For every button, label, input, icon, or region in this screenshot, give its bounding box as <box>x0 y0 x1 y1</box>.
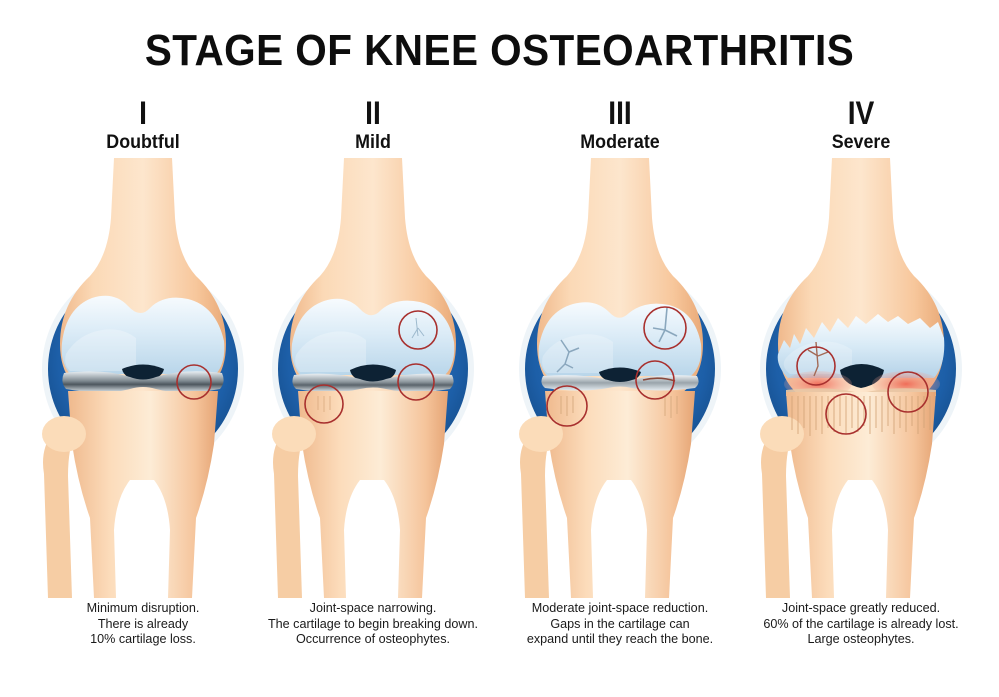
stage-caption: Joint-space greatly reduced. 60% of the … <box>732 601 990 648</box>
stage-name-label: Doubtful <box>26 132 261 154</box>
tibia-bone <box>545 391 695 598</box>
stage-panel-4[interactable]: IV Severe <box>736 96 986 676</box>
stage-roman-numeral: IV <box>751 96 971 130</box>
tibia-bone <box>786 392 936 598</box>
fibula-bone <box>761 430 794 598</box>
stage-roman-numeral: III <box>510 96 730 130</box>
stage-roman-numeral: I <box>33 96 253 130</box>
knee-illustration-stage-4 <box>736 158 986 598</box>
knee-illustration-stage-1 <box>18 158 268 598</box>
stage-name-label: Mild <box>256 132 491 154</box>
stage-caption: Minimum disruption. There is already 10%… <box>18 601 268 648</box>
knee-illustration-stage-3 <box>495 158 745 598</box>
fibula-head <box>519 416 563 452</box>
stage-panels: I Doubtful <box>0 96 999 696</box>
stage-panel-1[interactable]: I Doubtful <box>18 96 268 676</box>
stage-roman-numeral: II <box>263 96 483 130</box>
fibula-bone <box>273 430 306 598</box>
knee-illustration-stage-2 <box>248 158 498 598</box>
stage-caption: Joint-space narrowing. The cartilage to … <box>240 601 506 648</box>
stage-panel-2[interactable]: II Mild <box>248 96 498 676</box>
page-title: STAGE OF KNEE OSTEOARTHRITIS <box>40 26 959 76</box>
fibula-bone <box>43 430 76 598</box>
fibula-head <box>272 416 316 452</box>
stage-name-label: Severe <box>744 132 979 154</box>
stage-name-label: Moderate <box>503 132 738 154</box>
knee-osteoarthritis-infographic: STAGE OF KNEE OSTEOARTHRITIS I Doubtful <box>0 0 999 697</box>
fibula-head <box>42 416 86 452</box>
stage-panel-3[interactable]: III Moderate <box>495 96 745 676</box>
fibula-bone <box>520 430 553 598</box>
fibula-head <box>760 416 804 452</box>
tibia-bone <box>68 391 218 598</box>
stage-caption: Moderate joint-space reduction. Gaps in … <box>489 601 751 648</box>
